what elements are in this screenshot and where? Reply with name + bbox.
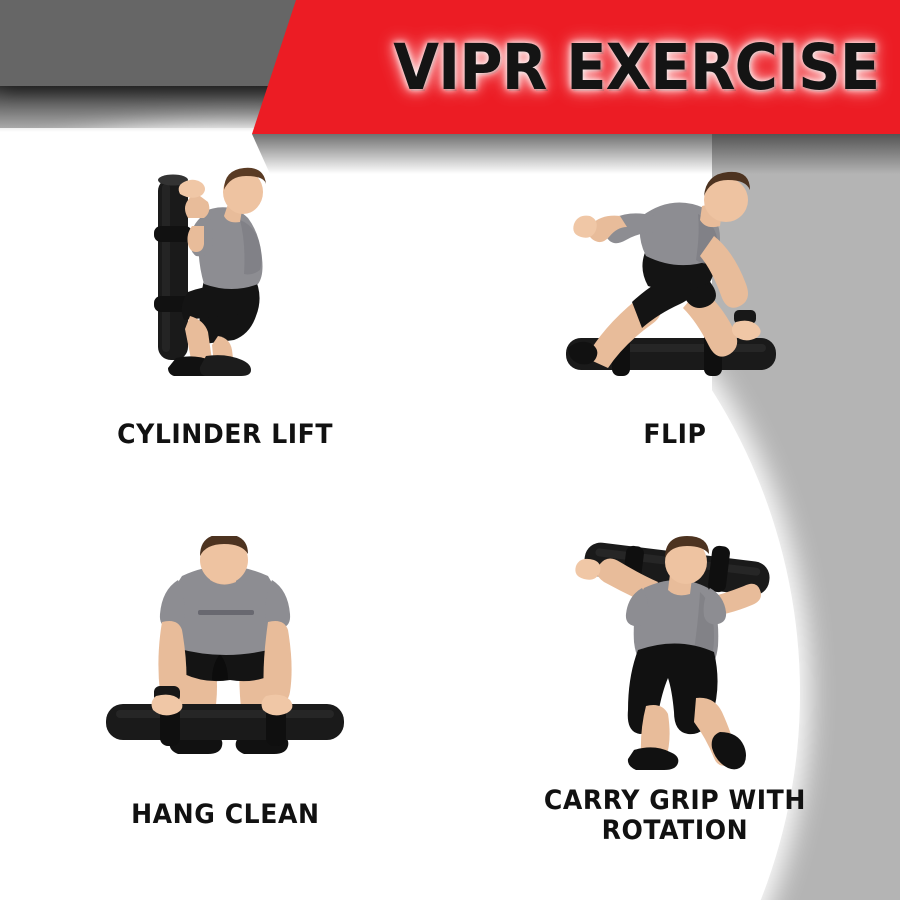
fist xyxy=(573,216,596,238)
shoe-left xyxy=(628,747,678,770)
exercise-card-cylinder-lift: CYLINDER LIFT xyxy=(0,160,450,530)
sleeve-left xyxy=(160,580,185,628)
shirt-logo xyxy=(198,610,254,615)
exercise-label-hang-clean: HANG CLEAN xyxy=(131,800,319,830)
shoe-right xyxy=(712,732,746,769)
hand-left xyxy=(575,559,600,580)
exercise-photo-flip xyxy=(525,160,825,390)
exercise-photo-hang-clean xyxy=(75,536,375,776)
exercise-card-carry-grip-with-rotation: CARRY GRIP WITH ROTATION xyxy=(450,530,900,900)
exercise-photo-carry-grip-with-rotation xyxy=(525,526,825,774)
exercise-label-carry-grip-with-rotation: CARRY GRIP WITH ROTATION xyxy=(544,786,806,846)
sleeve-right xyxy=(704,588,727,624)
exercise-grid: CYLINDER LIFT xyxy=(0,160,900,900)
vipr-exercise-poster: VIPR EXERCISE xyxy=(0,0,900,900)
exercise-card-hang-clean: HANG CLEAN xyxy=(0,530,450,900)
exercise-card-flip: FLIP xyxy=(450,160,900,530)
shoe-front xyxy=(200,355,251,376)
forearm xyxy=(185,195,209,218)
arm-right xyxy=(264,621,292,704)
sleeve-right xyxy=(266,580,291,628)
flip-illustration xyxy=(550,170,800,390)
poster-header: VIPR EXERCISE xyxy=(0,0,900,160)
header-red-banner-shadow xyxy=(252,134,900,174)
exercise-label-cylinder-lift: CYLINDER LIFT xyxy=(117,420,333,450)
carry-grip-illustration xyxy=(550,526,800,774)
exercise-photo-cylinder-lift xyxy=(75,160,375,390)
hang-clean-illustration xyxy=(100,536,350,776)
poster-title: VIPR EXERCISE xyxy=(291,0,900,134)
cylinder-lift-illustration xyxy=(110,160,340,390)
upper-arm xyxy=(188,226,205,252)
vipr-cylinder-horizontal xyxy=(106,698,344,746)
exercise-label-flip: FLIP xyxy=(643,420,706,450)
